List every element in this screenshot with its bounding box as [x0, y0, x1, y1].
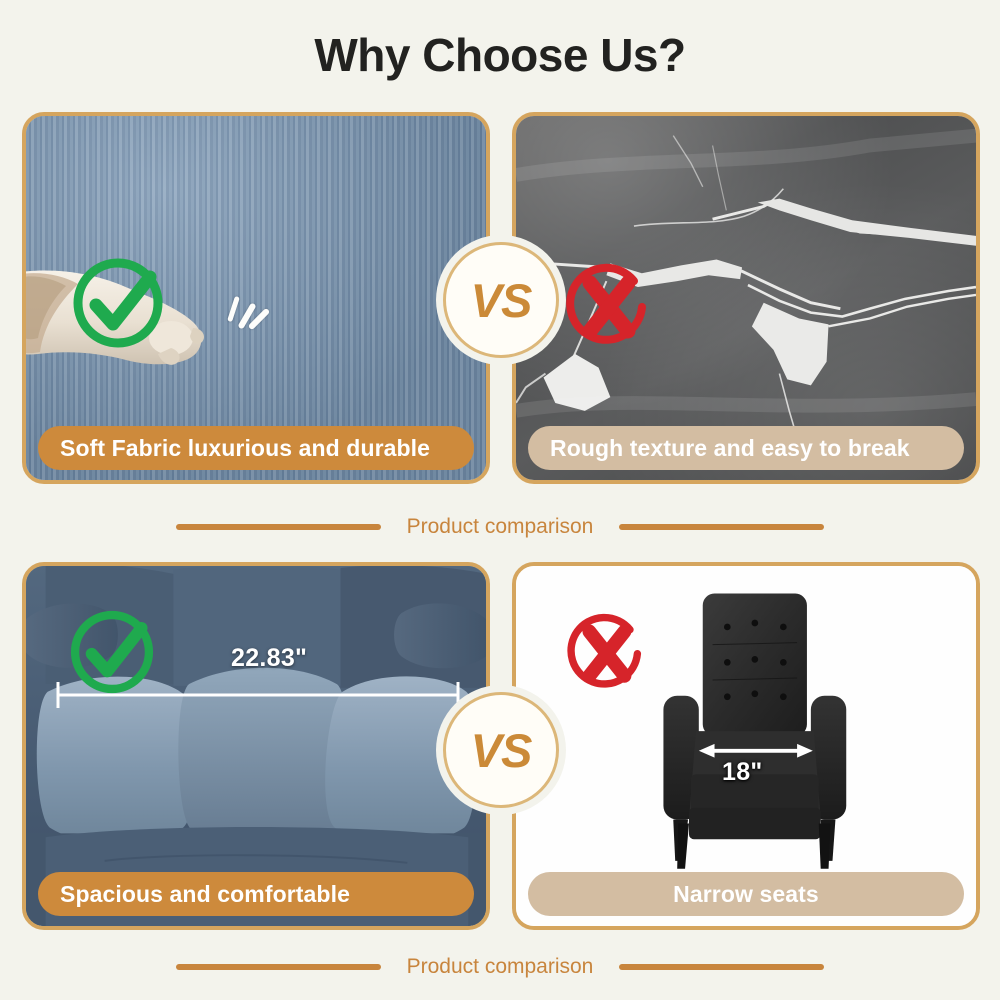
recliner-width-measurement-label: 18"	[722, 758, 763, 787]
leather-photo: Rough texture and easy to break	[516, 116, 976, 480]
divider-rule-right	[619, 964, 824, 970]
comparison-1-pro-panel: Soft Fabric luxurious and durable	[22, 112, 490, 484]
cross-icon	[556, 251, 660, 355]
recliner-photo: 18" Narrow seats	[516, 566, 976, 926]
seat-width-measurement-label: 22.83"	[231, 644, 307, 673]
divider-1: Product comparison	[0, 512, 1000, 542]
comparison-2-pro-panel: 22.83" Spacious and comfortable	[22, 562, 490, 930]
sofa-photo: 22.83" Spacious and comfortable	[26, 566, 486, 926]
comparison-1-con-caption: Rough texture and easy to break	[528, 426, 964, 470]
page-title: Why Choose Us?	[0, 28, 1000, 82]
comparison-2-con-panel: 18" Narrow seats	[512, 562, 980, 930]
vs-badge-2: VS	[443, 692, 559, 808]
cross-icon	[558, 602, 654, 698]
comparison-1-pro-caption: Soft Fabric luxurious and durable	[38, 426, 474, 470]
divider-rule-left	[176, 964, 381, 970]
divider-rule-right	[619, 524, 824, 530]
check-icon	[66, 251, 170, 355]
comparison-2-pro-caption: Spacious and comfortable	[38, 872, 474, 916]
divider-2: Product comparison	[0, 952, 1000, 982]
comparison-2-con-caption: Narrow seats	[528, 872, 964, 916]
infographic-page: Why Choose Us?	[0, 0, 1000, 1000]
fabric-photo: Soft Fabric luxurious and durable	[26, 116, 486, 480]
divider-rule-left	[176, 524, 381, 530]
divider-label: Product comparison	[407, 955, 594, 979]
divider-label: Product comparison	[407, 515, 594, 539]
seat-width-dimension-line	[52, 678, 464, 712]
comparison-1-con-panel: Rough texture and easy to break	[512, 112, 980, 484]
vs-badge-1: VS	[443, 242, 559, 358]
